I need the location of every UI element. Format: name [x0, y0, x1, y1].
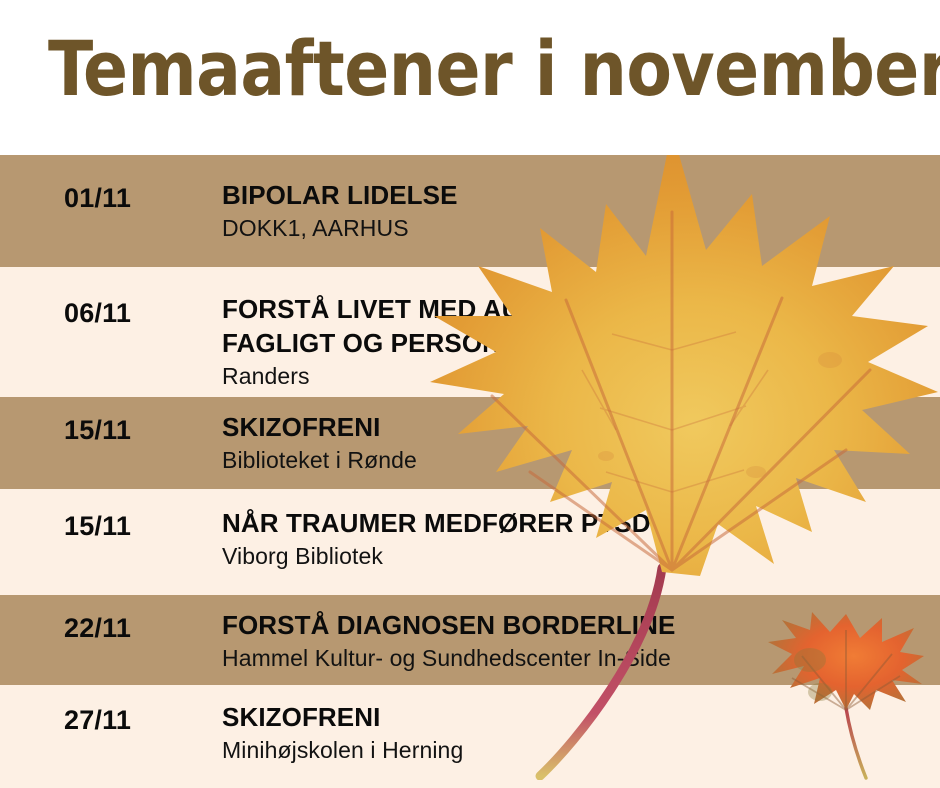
- event-title: FORSTÅ LIVET MED AUTISME UD FRA ET FAGLI…: [222, 292, 922, 360]
- event-title-line: SKIZOFRENI: [222, 410, 922, 444]
- table-row: 06/11 FORSTÅ LIVET MED AUTISME UD FRA ET…: [0, 267, 940, 397]
- table-row: 15/11 SKIZOFRENI Biblioteket i Rønde: [0, 397, 940, 489]
- event-venue: Biblioteket i Rønde: [222, 446, 922, 475]
- event-title-line: FORSTÅ DIAGNOSEN BORDERLINE: [222, 608, 922, 642]
- event-body: SKIZOFRENI Minihøjskolen i Herning: [222, 700, 922, 765]
- event-body: FORSTÅ LIVET MED AUTISME UD FRA ET FAGLI…: [222, 292, 922, 391]
- event-date: 15/11: [64, 511, 214, 542]
- event-title: BIPOLAR LIDELSE: [222, 178, 922, 212]
- event-body: SKIZOFRENI Biblioteket i Rønde: [222, 410, 922, 475]
- event-venue: Viborg Bibliotek: [222, 542, 922, 571]
- event-title-line: BIPOLAR LIDELSE: [222, 178, 922, 212]
- event-title-line: FAGLIGT OG PERSONLIGT PERSPEKTIV: [222, 326, 922, 360]
- event-venue: DOKK1, AARHUS: [222, 214, 922, 243]
- event-title: NÅR TRAUMER MEDFØRER PTSD: [222, 506, 922, 540]
- event-date: 06/11: [64, 298, 214, 329]
- event-date: 27/11: [64, 705, 214, 736]
- event-title: SKIZOFRENI: [222, 410, 922, 444]
- event-title: SKIZOFRENI: [222, 700, 922, 734]
- event-title-line: FORSTÅ LIVET MED AUTISME UD FRA ET: [222, 292, 922, 326]
- table-row: 27/11 SKIZOFRENI Minihøjskolen i Herning: [0, 685, 940, 788]
- event-body: FORSTÅ DIAGNOSEN BORDERLINE Hammel Kultu…: [222, 608, 922, 673]
- event-venue: Hammel Kultur- og Sundhedscenter In-Side: [222, 644, 922, 673]
- event-date: 15/11: [64, 415, 214, 446]
- event-body: BIPOLAR LIDELSE DOKK1, AARHUS: [222, 178, 922, 243]
- event-title: FORSTÅ DIAGNOSEN BORDERLINE: [222, 608, 922, 642]
- event-title-line: NÅR TRAUMER MEDFØRER PTSD: [222, 506, 922, 540]
- table-row: 15/11 NÅR TRAUMER MEDFØRER PTSD Viborg B…: [0, 489, 940, 595]
- event-venue: Minihøjskolen i Herning: [222, 736, 922, 765]
- event-venue: Randers: [222, 362, 922, 391]
- table-row: 22/11 FORSTÅ DIAGNOSEN BORDERLINE Hammel…: [0, 595, 940, 685]
- poster-header: Temaaftener i november: [0, 0, 940, 155]
- event-body: NÅR TRAUMER MEDFØRER PTSD Viborg Bibliot…: [222, 506, 922, 571]
- table-row: 01/11 BIPOLAR LIDELSE DOKK1, AARHUS: [0, 155, 940, 267]
- event-date: 22/11: [64, 613, 214, 644]
- poster-canvas: 01/11 BIPOLAR LIDELSE DOKK1, AARHUS 06/1…: [0, 0, 940, 788]
- event-date: 01/11: [64, 183, 214, 214]
- page-title: Temaaftener i november: [48, 26, 882, 112]
- event-title-line: SKIZOFRENI: [222, 700, 922, 734]
